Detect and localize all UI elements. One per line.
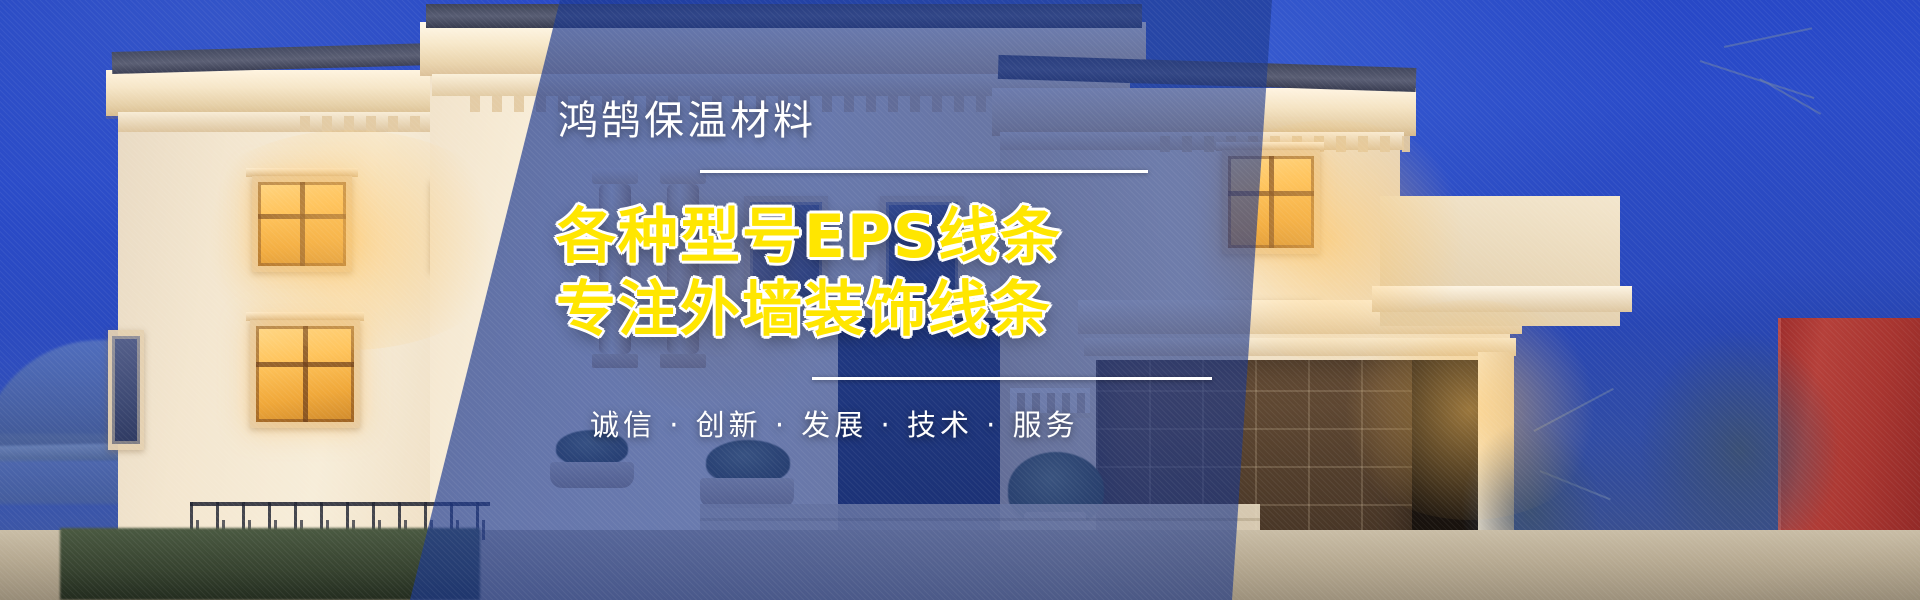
divider-bottom — [812, 377, 1212, 380]
hero-banner: 鸿鹄保温材料 各种型号EPS线条 专注外墙装饰线条 诚信 · 创新 · 发展 ·… — [0, 0, 1920, 600]
divider-top — [700, 170, 1148, 173]
brand-name: 鸿鹄保温材料 — [556, 96, 1196, 146]
tagline: 诚信 · 创新 · 发展 · 技术 · 服务 — [590, 402, 1196, 444]
headline-line-1: 各种型号EPS线条 — [556, 201, 1196, 274]
banner-copy-block: 鸿鹄保温材料 各种型号EPS线条 专注外墙装饰线条 诚信 · 创新 · 发展 ·… — [556, 96, 1196, 444]
headline-line-2: 专注外墙装饰线条 — [556, 274, 1196, 347]
